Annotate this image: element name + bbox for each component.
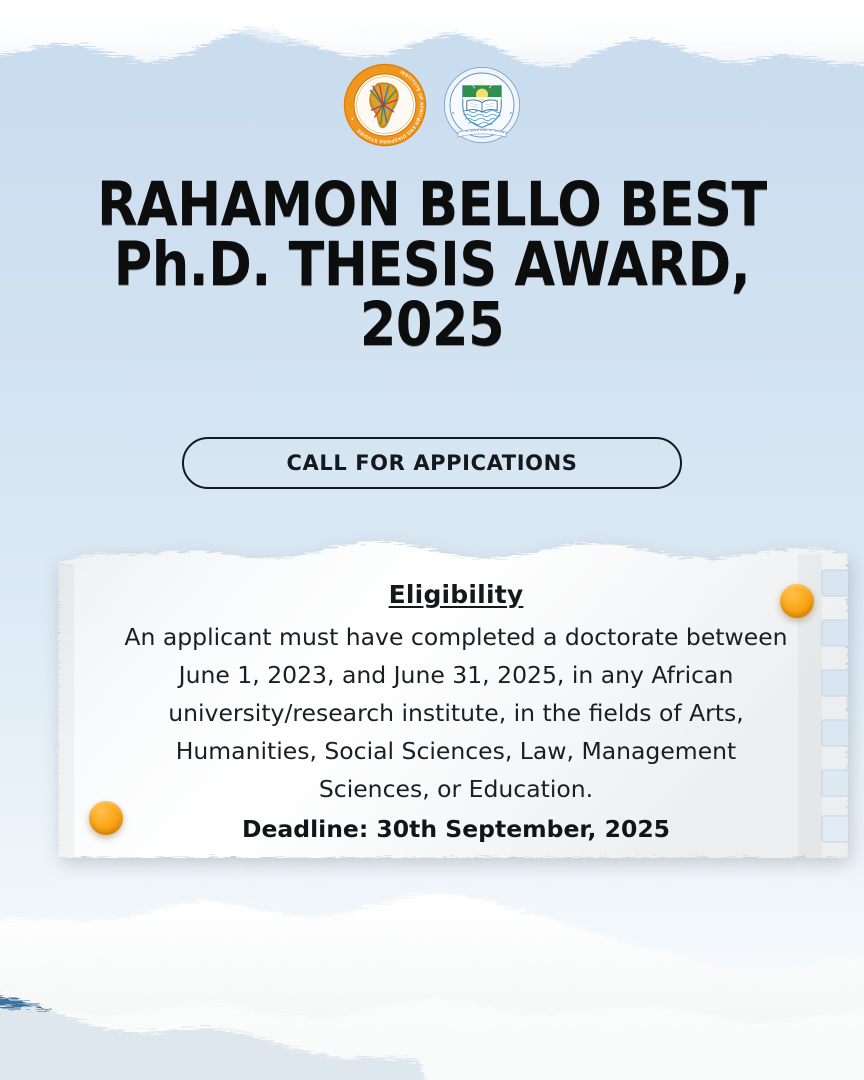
eligibility-line-2: June 1, 2023, and June 31, 2025, in any … <box>116 656 796 694</box>
eligibility-line-3: university/research institute, in the fi… <box>116 694 796 732</box>
logo-row: INSTITUTE OF AFRICAN AND DIASPORA STUDIE… <box>0 62 864 148</box>
iads-unilag-seal-icon: INSTITUTE OF AFRICAN AND DIASPORA STUDIE… <box>342 62 428 148</box>
page-title: RAHAMON BELLO BEST Ph.D. THESIS AWARD, 2… <box>60 175 803 354</box>
eligibility-heading: Eligibility <box>116 580 796 609</box>
call-for-applications-pill[interactable]: CALL FOR APPICATIONS <box>182 437 682 489</box>
eligibility-paragraph: An applicant must have completed a docto… <box>116 618 796 808</box>
eligibility-line-1: An applicant must have completed a docto… <box>116 618 796 656</box>
university-of-lagos-seal-icon: UNIVERSITY OF LAGOS IN DEED AND IN TRUTH <box>442 65 522 145</box>
page-title-line-2: Ph.D. THESIS AWARD, <box>60 235 803 295</box>
eligibility-card: Eligibility An applicant must have compl… <box>58 524 848 858</box>
page-title-line-1: RAHAMON BELLO BEST <box>60 175 803 235</box>
poster-root: INSTITUTE OF AFRICAN AND DIASPORA STUDIE… <box>0 0 864 1080</box>
page-title-line-3: 2025 <box>60 295 803 355</box>
call-for-applications-banner: CALL FOR APPICATIONS <box>0 437 864 489</box>
eligibility-card-content: Eligibility An applicant must have compl… <box>116 524 796 858</box>
torn-paper-bottom-decoration <box>0 850 864 1080</box>
pin-bottom-left-icon <box>89 801 123 835</box>
pin-top-right-icon <box>780 584 814 618</box>
eligibility-line-4: Humanities, Social Sciences, Law, Manage… <box>116 732 796 770</box>
eligibility-line-5: Sciences, or Education. <box>116 770 796 808</box>
deadline-text: Deadline: 30th September, 2025 <box>116 810 796 848</box>
